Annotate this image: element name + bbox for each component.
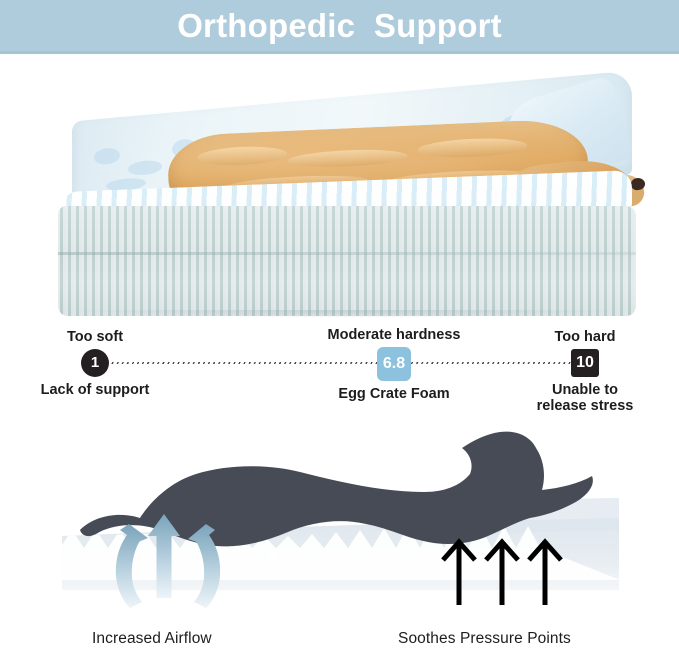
scale-sublabel-egg-crate-foam: Egg Crate Foam [300, 386, 488, 402]
scale-sublabel-lack-of-support: Lack of support [20, 382, 170, 398]
scale-sublabel-unable-to-release-stress: Unable to release stress [505, 382, 665, 414]
scale-point-moderate: Moderate hardness 6.8 Egg Crate Foam [300, 328, 488, 402]
scale-sublabel-line2: release stress [537, 398, 634, 414]
bed-base [58, 206, 636, 316]
scale-sublabel-line1: Unable to [552, 382, 618, 398]
scale-point-too-hard: Too hard 10 Unable to release stress [505, 330, 665, 414]
scale-label-too-hard: Too hard [505, 330, 665, 346]
scale-label-moderate-hardness: Moderate hardness [300, 328, 488, 344]
bed-shadow [70, 310, 626, 318]
cross-section-diagram: Increased Airflow Soothes Pressure Point… [0, 418, 679, 660]
label-soothes-pressure-points: Soothes Pressure Points [398, 630, 571, 648]
scale-label-too-soft: Too soft [20, 330, 170, 346]
scale-marker-6-8: 6.8 [377, 347, 411, 381]
scale-marker-1: 1 [81, 349, 109, 377]
scale-point-too-soft: Too soft 1 Lack of support [20, 330, 170, 398]
label-increased-airflow: Increased Airflow [92, 630, 212, 648]
scale-marker-10: 10 [571, 349, 599, 377]
pressure-arrows [443, 542, 561, 605]
page-title: Orthopedic Support [177, 9, 502, 42]
product-photo [0, 54, 679, 316]
airflow-arrows [116, 514, 220, 608]
hardness-scale: Too soft 1 Lack of support Moderate hard… [0, 322, 679, 420]
header-banner: Orthopedic Support [0, 0, 679, 54]
